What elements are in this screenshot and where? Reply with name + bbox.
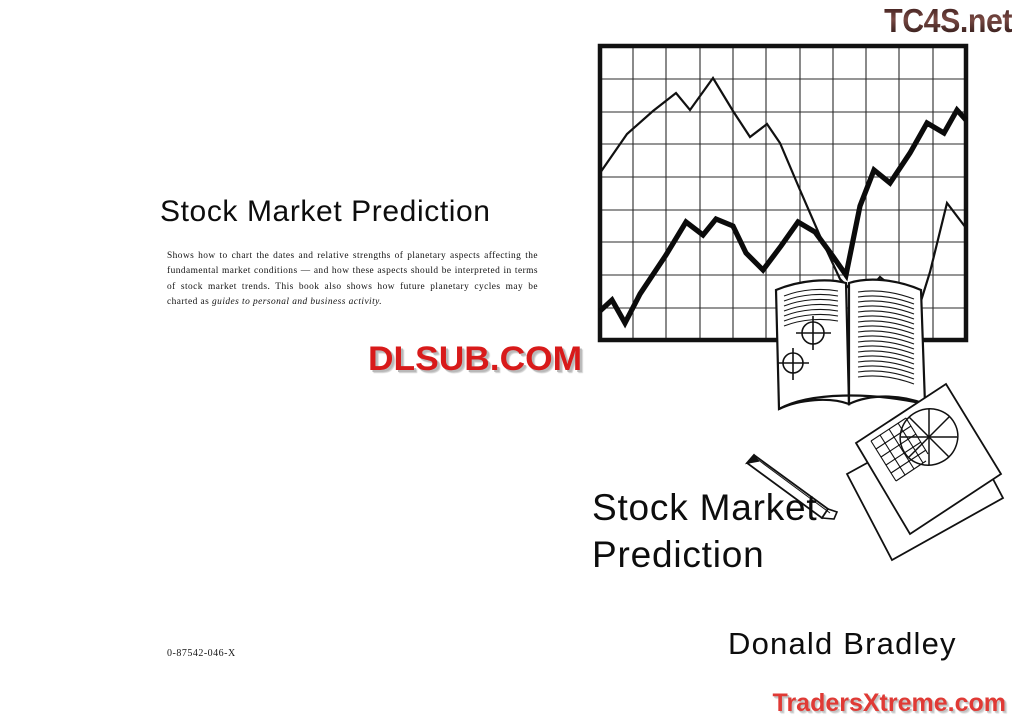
- back-cover-blurb: Shows how to chart the dates and relativ…: [167, 249, 538, 310]
- isbn-number: 0-87542-046-X: [167, 648, 236, 659]
- watermark-tradersxtreme-com: TradersXtreme.com: [773, 689, 1006, 718]
- front-cover-title-line1: Stock Market: [592, 487, 818, 529]
- back-cover-title: Stock Market Prediction: [160, 195, 560, 229]
- front-cover-title-line2: Prediction: [592, 534, 765, 576]
- front-cover-author: Donald Bradley: [728, 626, 957, 662]
- watermark-tc4s-net: TC4S.net: [884, 2, 1012, 40]
- blurb-italic-text: guides to personal and business activity…: [212, 297, 382, 307]
- front-cover-panel: Stock Market Prediction Donald Bradley: [560, 0, 1024, 724]
- book-cover-page: Stock Market Prediction Shows how to cha…: [0, 0, 1024, 724]
- watermark-dlsub-com: DLSUB.COM: [368, 340, 582, 379]
